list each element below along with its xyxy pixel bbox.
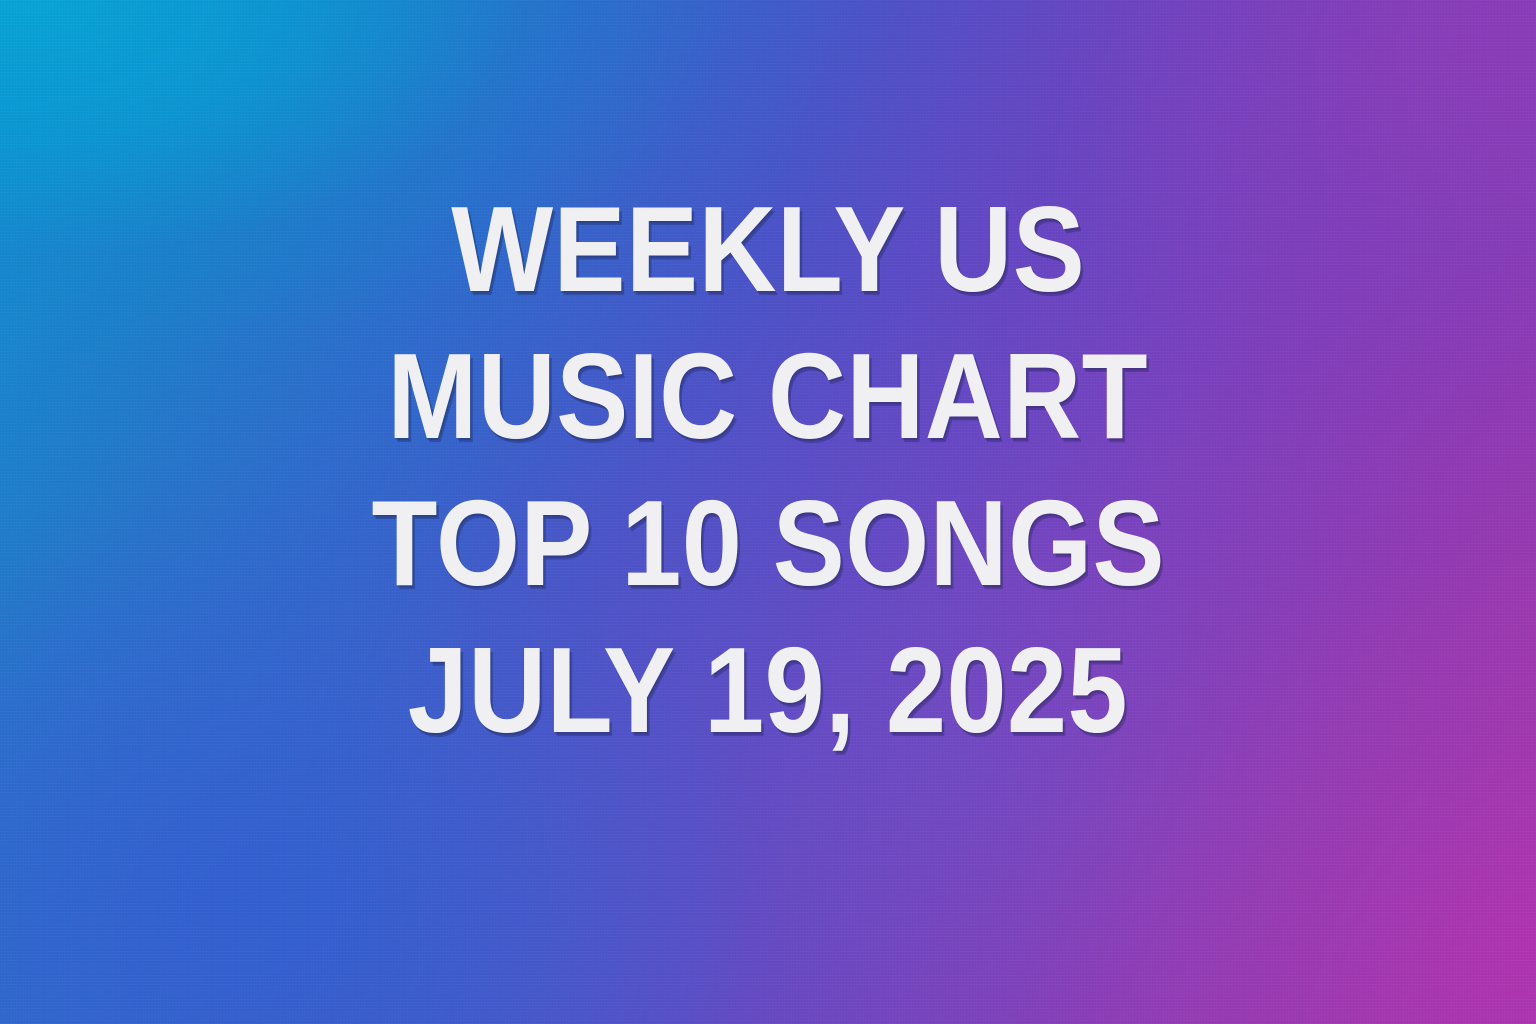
title-line-rank-count: TOP 10 SONGS xyxy=(371,470,1164,617)
poster-canvas: WEEKLY US MUSIC CHART TOP 10 SONGS JULY … xyxy=(0,0,1536,1024)
title-line-scope: WEEKLY US xyxy=(451,176,1085,323)
title-line-chart: MUSIC CHART xyxy=(388,323,1149,470)
poster-title-block: WEEKLY US MUSIC CHART TOP 10 SONGS JULY … xyxy=(0,176,1536,764)
title-line-date: JULY 19, 2025 xyxy=(408,617,1128,764)
